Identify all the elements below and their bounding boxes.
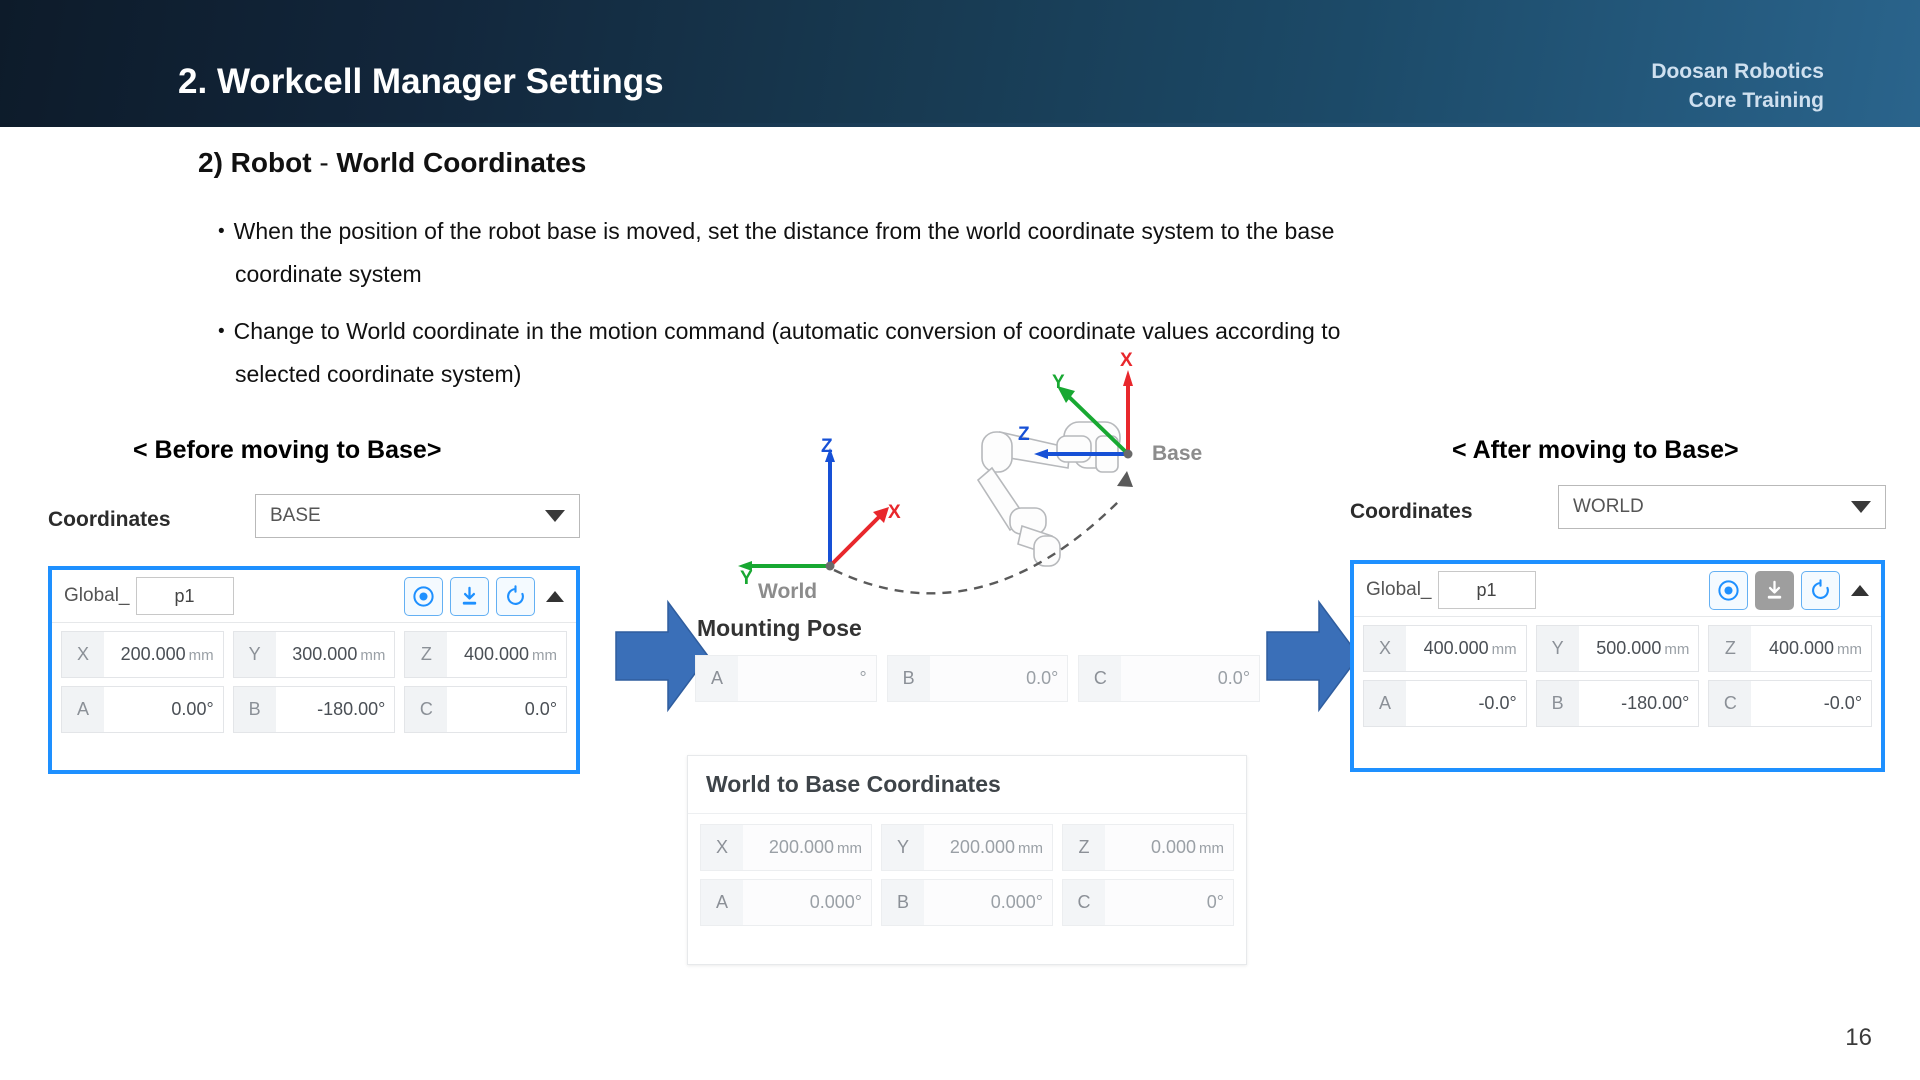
after-coordinates-label: Coordinates [1350,500,1473,524]
before-field-c-value: 0.0° [447,699,566,720]
flow-arrow-right [1263,598,1363,719]
before-field-a-key: A [62,687,104,732]
slide-header: 2. Workcell Manager Settings Doosan Robo… [0,0,1920,127]
after-field-a-value: -0.0° [1406,693,1526,714]
before-coordinates-value: BASE [270,505,545,527]
wb-field-x-key: X [701,825,743,870]
mounting-field-a-key: A [696,656,738,701]
before-field-b-key: B [234,687,276,732]
before-field-y-key: Y [234,632,276,677]
before-coordinates-label: Coordinates [48,508,171,532]
brand-line-1: Doosan Robotics [1651,57,1824,86]
after-field-c[interactable]: C -0.0° [1708,680,1872,727]
before-field-x[interactable]: X 200.000mm [61,631,224,678]
subtitle-part-b: World Coordinates [336,147,586,178]
wb-field-z[interactable]: Z 0.000mm [1062,824,1234,871]
slide-root: 2. Workcell Manager Settings Doosan Robo… [0,0,1920,1080]
svg-text:X: X [1120,350,1133,371]
wb-field-b[interactable]: B 0.000° [881,879,1053,926]
wb-field-c-key: C [1063,880,1105,925]
svg-text:X: X [888,502,901,523]
wb-field-y-key: Y [882,825,924,870]
before-field-z-value: 400.000mm [447,644,566,665]
bullet-1-line-2: coordinate system [218,253,1858,295]
mounting-field-b-key: B [888,656,930,701]
after-pose-card: Global_ p1 X 400.000mm [1350,560,1885,772]
after-global-label: Global_ [1366,579,1432,601]
after-field-x-value: 400.000mm [1406,638,1526,659]
chevron-up-icon[interactable] [1851,585,1869,596]
before-field-c-key: C [405,687,447,732]
section-subtitle: 2) Robot - World Coordinates [198,147,586,179]
mounting-field-c[interactable]: C 0.0° [1078,655,1260,702]
before-pose-card: Global_ p1 X 200.000mm [48,566,580,774]
wb-field-y-value: 200.000mm [924,837,1052,858]
before-field-a-value: 0.00° [104,699,223,720]
before-global-label: Global_ [64,585,130,607]
download-icon[interactable] [450,577,489,616]
before-pose-row-abc: A 0.00° B -180.00° C 0.0° [61,686,567,733]
mounting-field-c-value: 0.0° [1121,668,1259,689]
chevron-down-icon [1851,501,1871,513]
page-title-text: Workcell Manager Settings [217,62,664,101]
wb-field-z-value: 0.000mm [1105,837,1233,858]
refresh-icon[interactable] [1801,571,1840,610]
world-to-base-card: World to Base Coordinates X 200.000mm Y … [687,755,1247,965]
wb-field-b-value: 0.000° [924,892,1052,913]
bullet-1-line-1: When the position of the robot base is m… [234,218,1335,244]
chevron-down-icon [545,510,565,522]
page-title: 2. Workcell Manager Settings [178,62,664,102]
svg-text:Y: Y [1052,372,1065,393]
before-field-c[interactable]: C 0.0° [404,686,567,733]
after-pose-header: Global_ p1 [1354,564,1881,617]
before-pose-buttons [404,577,535,616]
after-field-a[interactable]: A -0.0° [1363,680,1527,727]
subtitle-dash: - [319,147,336,178]
after-field-y-value: 500.000mm [1579,638,1699,659]
brand-block: Doosan Robotics Core Training [1651,57,1824,115]
chevron-up-icon[interactable] [546,591,564,602]
subtitle-part-a: 2) Robot [198,147,319,178]
before-point-name-input[interactable]: p1 [136,577,234,615]
page-title-number: 2. [178,62,207,101]
robot-arm-illustration [978,422,1120,566]
before-field-x-key: X [62,632,104,677]
svg-text:Z: Z [1018,424,1030,445]
after-field-x-key: X [1364,626,1406,671]
after-field-z-value: 400.000mm [1751,638,1871,659]
coordinate-frame-diagram: Z Y X World [700,340,1260,602]
before-coordinates-select[interactable]: BASE [255,494,580,538]
world-to-base-title: World to Base Coordinates [688,756,1246,814]
bullet-marker-1: • [218,221,225,242]
after-field-y[interactable]: Y 500.000mm [1536,625,1700,672]
after-field-b-value: -180.00° [1579,693,1699,714]
mounting-pose-title: Mounting Pose [697,615,862,642]
wb-field-a[interactable]: A 0.000° [700,879,872,926]
mounting-pose-row: A ° B 0.0° C 0.0° [695,655,1260,702]
wb-field-a-value: 0.000° [743,892,871,913]
target-icon[interactable] [1709,571,1748,610]
after-field-z-key: Z [1709,626,1751,671]
svg-text:Z: Z [821,436,833,457]
before-pose-header: Global_ p1 [52,570,576,623]
bullet-item-1: •When the position of the robot base is … [218,210,1858,295]
mounting-field-b[interactable]: B 0.0° [887,655,1069,702]
after-coordinates-select[interactable]: WORLD [1558,485,1886,529]
brand-line-2: Core Training [1651,86,1824,115]
after-field-x[interactable]: X 400.000mm [1363,625,1527,672]
before-field-z[interactable]: Z 400.000mm [404,631,567,678]
wb-field-z-key: Z [1063,825,1105,870]
before-pose-grid: X 200.000mm Y 300.000mm Z 400.000mm A 0.… [52,623,576,743]
wb-field-x[interactable]: X 200.000mm [700,824,872,871]
after-pose-row-xyz: X 400.000mm Y 500.000mm Z 400.000mm [1363,625,1872,672]
svg-text:Y: Y [740,568,753,589]
before-field-b-value: -180.00° [276,699,395,720]
before-field-x-value: 200.000mm [104,644,223,665]
download-icon [1755,571,1794,610]
wb-field-c[interactable]: C 0° [1062,879,1234,926]
before-field-y[interactable]: Y 300.000mm [233,631,396,678]
before-field-z-key: Z [405,632,447,677]
target-icon[interactable] [404,577,443,616]
world-to-base-grid: X 200.000mm Y 200.000mm Z 0.000mm A 0.00… [688,814,1246,940]
before-field-y-value: 300.000mm [276,644,395,665]
mounting-field-a[interactable]: A ° [695,655,877,702]
after-field-c-key: C [1709,681,1751,726]
before-caption: < Before moving to Base> [133,436,441,465]
after-pose-grid: X 400.000mm Y 500.000mm Z 400.000mm A -0… [1354,617,1881,737]
refresh-icon[interactable] [496,577,535,616]
before-field-a[interactable]: A 0.00° [61,686,224,733]
after-point-name-input[interactable]: p1 [1438,571,1536,609]
before-pose-row-xyz: X 200.000mm Y 300.000mm Z 400.000mm [61,631,567,678]
mounting-pose-grid: A ° B 0.0° C 0.0° [695,655,1260,702]
mounting-field-b-value: 0.0° [930,668,1068,689]
after-field-b-key: B [1537,681,1579,726]
after-field-c-value: -0.0° [1751,693,1871,714]
wb-field-y[interactable]: Y 200.000mm [881,824,1053,871]
wb-field-c-value: 0° [1105,892,1233,913]
after-field-a-key: A [1364,681,1406,726]
wb-row-xyz: X 200.000mm Y 200.000mm Z 0.000mm [700,824,1234,871]
before-field-b[interactable]: B -180.00° [233,686,396,733]
after-caption: < After moving to Base> [1452,436,1739,465]
after-pose-row-abc: A -0.0° B -180.00° C -0.0° [1363,680,1872,727]
mounting-field-a-value: ° [738,668,876,689]
wb-field-x-value: 200.000mm [743,837,871,858]
svg-text:Base: Base [1152,442,1202,465]
bullet-marker-2: • [218,321,225,342]
after-field-z[interactable]: Z 400.000mm [1708,625,1872,672]
after-coordinates-value: WORLD [1573,496,1851,518]
wb-row-abc: A 0.000° B 0.000° C 0° [700,879,1234,926]
world-frame [738,448,889,571]
after-pose-buttons [1709,571,1840,610]
page-number: 16 [1845,1024,1872,1052]
mounting-field-c-key: C [1079,656,1121,701]
after-field-b[interactable]: B -180.00° [1536,680,1700,727]
svg-text:World: World [758,580,817,602]
wb-field-b-key: B [882,880,924,925]
wb-field-a-key: A [701,880,743,925]
after-field-y-key: Y [1537,626,1579,671]
